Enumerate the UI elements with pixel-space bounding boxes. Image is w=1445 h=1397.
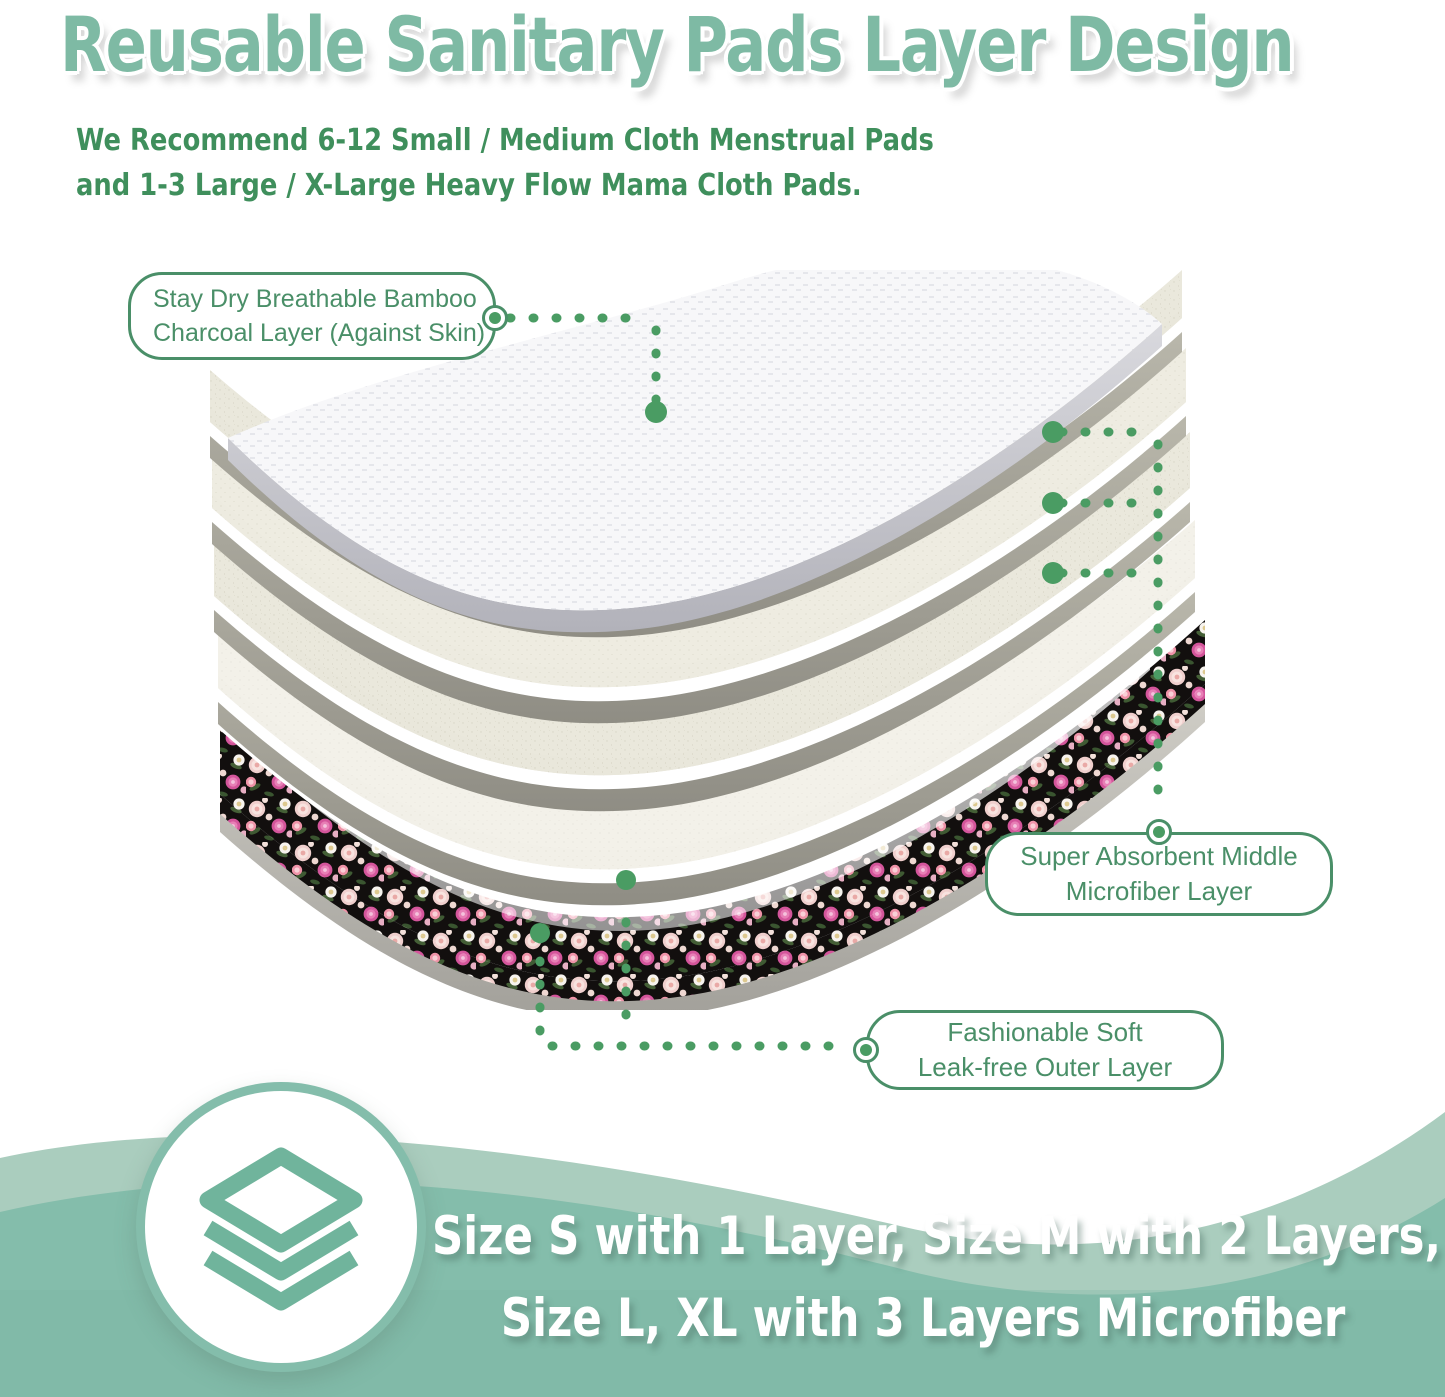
- banner-line-1: Size S with 1 Layer, Size M with 2 Layer…: [432, 1196, 1260, 1278]
- layers-stack-icon: [186, 1142, 376, 1312]
- callout-absorbent-line-2: Microfiber Layer: [1066, 874, 1252, 909]
- page-title-text: Reusable Sanitary Pads Layer Design: [60, 2, 1100, 88]
- connector-knob-bamboo: [482, 305, 508, 331]
- infographic-canvas: Reusable Sanitary Pads Layer Design We R…: [0, 0, 1445, 1397]
- layers-badge: [136, 1082, 426, 1372]
- callout-bamboo-line-2: Charcoal Layer (Against Skin): [153, 316, 485, 350]
- subtitle-line-2: and 1-3 Large / X-Large Heavy Flow Mama …: [76, 163, 936, 208]
- callout-bamboo-charcoal-layer[interactable]: Stay Dry Breathable Bamboo Charcoal Laye…: [128, 272, 496, 360]
- size-banner-text: Size S with 1 Layer, Size M with 2 Layer…: [432, 1196, 1260, 1360]
- callout-bamboo-line-1: Stay Dry Breathable Bamboo: [153, 282, 477, 316]
- banner-line-2: Size L, XL with 3 Layers Microfiber: [432, 1278, 1260, 1360]
- recommendation-subtitle: We Recommend 6-12 Small / Medium Cloth M…: [76, 118, 936, 208]
- page-title: Reusable Sanitary Pads Layer Design: [60, 2, 1360, 97]
- subtitle-line-1: We Recommend 6-12 Small / Medium Cloth M…: [76, 118, 936, 163]
- connector-knob-absorbent: [1146, 819, 1172, 845]
